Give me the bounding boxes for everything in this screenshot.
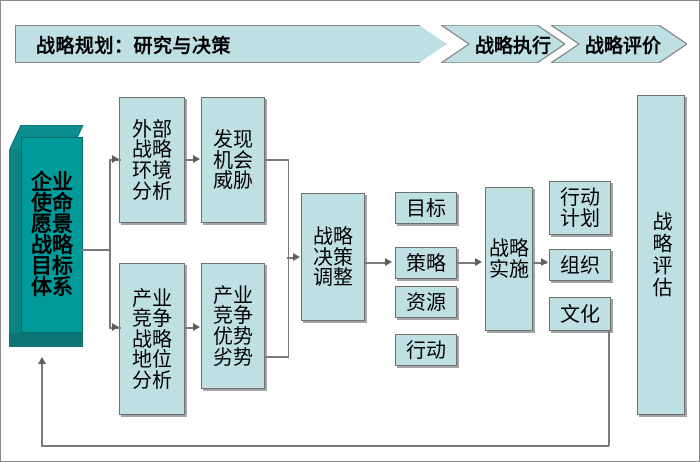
arrowhead-to-decision bbox=[293, 253, 300, 261]
phase-banner-planning-label: 战略规划：研究与决策 bbox=[36, 31, 231, 58]
node-opportunities-threats[interactable]: 发现 机会 威胁 bbox=[201, 97, 265, 223]
node-impl-organization-label: 组织 bbox=[560, 255, 600, 276]
arrowhead-to-implementation bbox=[475, 258, 482, 266]
node-output-strategy[interactable]: 策略 bbox=[395, 247, 457, 279]
node-external-environment-label: 外部 战略 环境 分析 bbox=[132, 119, 172, 201]
node-impl-culture-label: 文化 bbox=[560, 304, 600, 325]
connector-opportunities-down bbox=[288, 159, 290, 257]
node-industry-swot-label: 产业 竞争 优势 劣势 bbox=[213, 285, 253, 367]
diagram-canvas: 战略规划：研究与决策 战略执行 战略评价 企业 使命 愿景 战略 目标 体系 外… bbox=[0, 0, 700, 462]
node-output-resource[interactable]: 资源 bbox=[395, 286, 457, 318]
cube-label: 企业 使命 愿景 战略 目标 体系 bbox=[31, 172, 73, 298]
phase-banner-evaluation: 战略评价 bbox=[551, 25, 687, 63]
node-output-action-label: 行动 bbox=[406, 340, 446, 361]
connector-decision-to-strategy bbox=[365, 262, 387, 264]
phase-banner-evaluation-label: 战略评价 bbox=[585, 25, 661, 63]
node-output-objective-label: 目标 bbox=[406, 198, 446, 219]
arrowhead-feedback-to-cube bbox=[38, 357, 46, 364]
node-strategy-evaluation[interactable]: 战略评估 bbox=[637, 95, 685, 415]
connector-swot-up bbox=[288, 257, 290, 356]
node-strategic-decision[interactable]: 战略 决策 调整 bbox=[301, 193, 365, 321]
node-impl-organization[interactable]: 组织 bbox=[549, 249, 611, 281]
connector-cube-out bbox=[81, 249, 111, 251]
connector-opportunities-out bbox=[265, 159, 289, 161]
node-industry-swot[interactable]: 产业 竞争 优势 劣势 bbox=[201, 263, 265, 389]
arrowhead-to-strategy bbox=[385, 258, 392, 266]
node-strategy-evaluation-label: 战略评估 bbox=[651, 211, 671, 299]
arrowhead-to-external-env bbox=[112, 155, 119, 163]
connector-swot-out bbox=[265, 356, 289, 358]
connector-feedback-down bbox=[608, 331, 610, 446]
node-output-strategy-label: 策略 bbox=[406, 253, 446, 274]
node-strategy-implementation-label: 战略 实施 bbox=[489, 238, 529, 279]
node-strategy-implementation[interactable]: 战略 实施 bbox=[485, 187, 533, 331]
node-output-resource-label: 资源 bbox=[406, 292, 446, 313]
cube-bottom-face bbox=[9, 333, 83, 347]
node-output-objective[interactable]: 目标 bbox=[395, 192, 457, 224]
node-industry-position-label: 产业 竞争 战略 地位 分析 bbox=[132, 288, 172, 391]
node-opportunities-threats-label: 发现 机会 威胁 bbox=[213, 129, 253, 191]
node-strategic-decision-label: 战略 决策 调整 bbox=[313, 226, 353, 288]
arrowhead-to-opportunities bbox=[193, 155, 200, 163]
connector-cube-split bbox=[109, 159, 111, 327]
node-impl-culture[interactable]: 文化 bbox=[549, 297, 611, 331]
connector-feedback-left bbox=[41, 445, 609, 447]
node-industry-position[interactable]: 产业 竞争 战略 地位 分析 bbox=[119, 263, 185, 415]
phase-banner-execution-label: 战略执行 bbox=[475, 25, 551, 63]
arrowhead-to-industry-position bbox=[112, 323, 119, 331]
arrowhead-to-swot bbox=[193, 323, 200, 331]
cube-front-face: 企业 使命 愿景 战略 目标 体系 bbox=[21, 137, 83, 333]
phase-banner-execution: 战略执行 bbox=[441, 25, 565, 63]
corporate-mission-cube: 企业 使命 愿景 战略 目标 体系 bbox=[7, 119, 89, 353]
node-impl-action-plan-label: 行动 计划 bbox=[560, 187, 600, 228]
arrowhead-to-impl-outputs bbox=[541, 258, 548, 266]
node-impl-action-plan[interactable]: 行动 计划 bbox=[549, 181, 611, 235]
phase-banner-planning: 战略规划：研究与决策 bbox=[15, 25, 447, 63]
node-external-environment[interactable]: 外部 战略 环境 分析 bbox=[119, 97, 185, 223]
connector-feedback-up bbox=[41, 363, 43, 446]
node-output-action[interactable]: 行动 bbox=[395, 334, 457, 366]
